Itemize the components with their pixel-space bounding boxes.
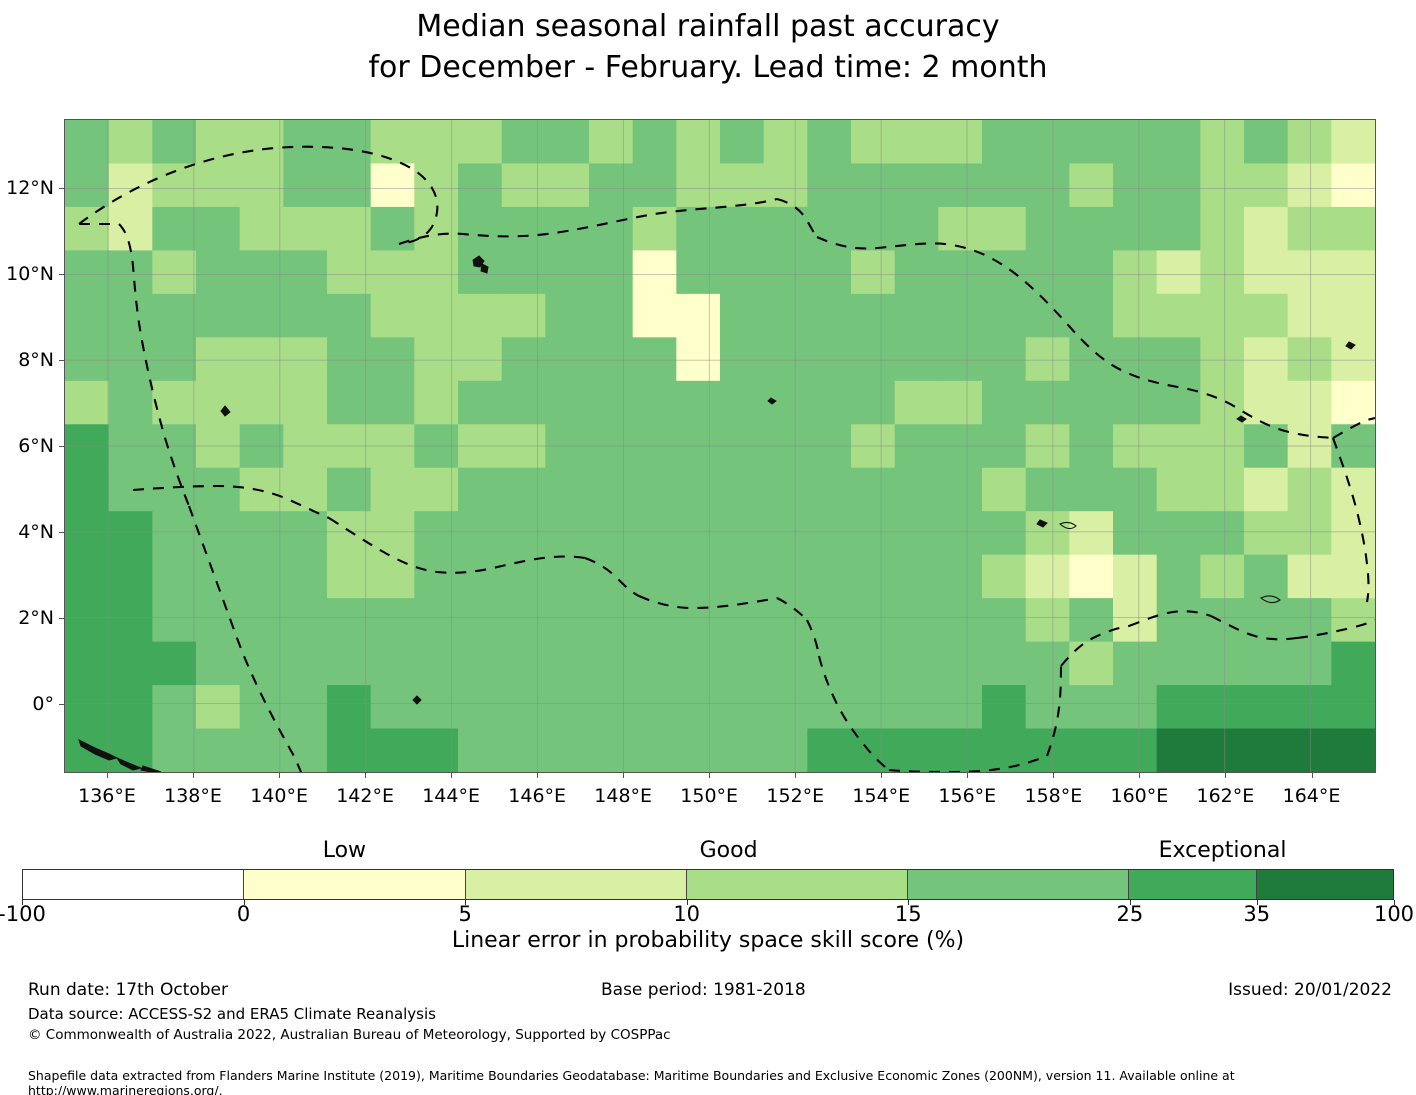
data-source-text: Data source: ACCESS-S2 and ERA5 Climate … [28, 1005, 436, 1023]
y-axis-tick-mark [59, 618, 64, 619]
y-axis-tick-label: 4°N [0, 521, 54, 543]
y-axis-tick-mark [59, 446, 64, 447]
x-axis-tick-label: 162°E [1197, 785, 1255, 807]
issued-date-text: Issued: 20/01/2022 [1228, 980, 1392, 1000]
colorbar-segment [907, 870, 1128, 899]
x-axis-tick-mark [451, 773, 452, 778]
x-axis-tick-mark [1139, 773, 1140, 778]
y-axis-tick-label: 6°N [0, 435, 54, 457]
colorbar-tick-mark [1394, 900, 1395, 905]
colorbar-tick-mark [1130, 900, 1131, 905]
colorbar: -1000510152535100LowGoodExceptional [22, 869, 1394, 900]
x-axis-tick-label: 144°E [422, 785, 480, 807]
colorbar-segment [1256, 870, 1393, 899]
colorbar-gradient [22, 869, 1394, 900]
x-axis-tick-label: 164°E [1283, 785, 1341, 807]
y-axis-tick-mark [59, 532, 64, 533]
x-axis-tick-mark [881, 773, 882, 778]
x-axis-tick-mark [107, 773, 108, 778]
y-axis-tick-label: 8°N [0, 349, 54, 371]
x-axis-tick-mark [623, 773, 624, 778]
x-axis-tick-mark [1312, 773, 1313, 778]
colorbar-tick-label: 15 [895, 902, 922, 926]
x-axis-tick-label: 160°E [1111, 785, 1169, 807]
base-period-text: Base period: 1981-2018 [601, 980, 806, 1000]
x-axis-tick-label: 150°E [680, 785, 738, 807]
y-axis-tick-label: 2°N [0, 607, 54, 629]
x-axis-tick-label: 154°E [852, 785, 910, 807]
colorbar-tick-mark [22, 900, 23, 905]
colorbar-segment [465, 870, 686, 899]
colorbar-tick-label: 5 [459, 902, 472, 926]
colorbar-segment [243, 870, 464, 899]
colorbar-tick-mark [244, 900, 245, 905]
y-axis-tick-mark [59, 360, 64, 361]
x-axis-tick-mark [795, 773, 796, 778]
x-axis-tick-mark [193, 773, 194, 778]
x-axis-tick-mark [967, 773, 968, 778]
colorbar-segment [686, 870, 907, 899]
copyright-text: © Commonwealth of Australia 2022, Austra… [28, 1027, 671, 1043]
footer: Run date: 17th October Base period: 1981… [0, 980, 1416, 1095]
x-axis-tick-label: 156°E [938, 785, 996, 807]
x-axis-tick-label: 138°E [164, 785, 222, 807]
colorbar-tick-label: 25 [1117, 902, 1144, 926]
y-axis-tick-label: 0° [0, 693, 54, 715]
colorbar-axis-title: Linear error in probability space skill … [0, 928, 1416, 953]
x-axis-tick-label: 146°E [508, 785, 566, 807]
chart-page: Median seasonal rainfall past accuracy f… [0, 0, 1416, 1095]
shapefile-attribution-text: Shapefile data extracted from Flanders M… [28, 1068, 1416, 1095]
y-axis-tick-mark [59, 188, 64, 189]
colorbar-tick-mark [1257, 900, 1258, 905]
colorbar-segment [23, 870, 243, 899]
colorbar-tick-label: 100 [1374, 902, 1414, 926]
run-date-text: Run date: 17th October [28, 980, 228, 1000]
x-axis-tick-label: 158°E [1025, 785, 1083, 807]
colorbar-category-label: Good [700, 838, 758, 863]
y-axis-tick-label: 10°N [0, 263, 54, 285]
colorbar-tick-label: 10 [673, 902, 700, 926]
x-axis-tick-mark [1053, 773, 1054, 778]
colorbar-tick-label: 35 [1243, 902, 1270, 926]
x-axis-tick-label: 136°E [78, 785, 136, 807]
colorbar-category-label: Exceptional [1159, 838, 1287, 863]
colorbar-segment [1128, 870, 1255, 899]
x-axis-tick-label: 152°E [766, 785, 824, 807]
colorbar-tick-label: 0 [237, 902, 250, 926]
y-axis-tick-mark [59, 274, 64, 275]
x-axis-tick-mark [365, 773, 366, 778]
colorbar-tick-mark [465, 900, 466, 905]
x-axis-tick-mark [537, 773, 538, 778]
y-axis-tick-label: 12°N [0, 177, 54, 199]
colorbar-category-label: Low [323, 838, 366, 863]
x-axis-tick-label: 148°E [594, 785, 652, 807]
x-axis-tick-mark [1225, 773, 1226, 778]
y-axis-tick-mark [59, 704, 64, 705]
x-axis-tick-mark [709, 773, 710, 778]
colorbar-tick-label: -100 [0, 902, 46, 926]
x-axis-tick-mark [279, 773, 280, 778]
x-axis-tick-label: 142°E [336, 785, 394, 807]
colorbar-tick-mark [687, 900, 688, 905]
x-axis-tick-label: 140°E [250, 785, 308, 807]
colorbar-tick-mark [908, 900, 909, 905]
